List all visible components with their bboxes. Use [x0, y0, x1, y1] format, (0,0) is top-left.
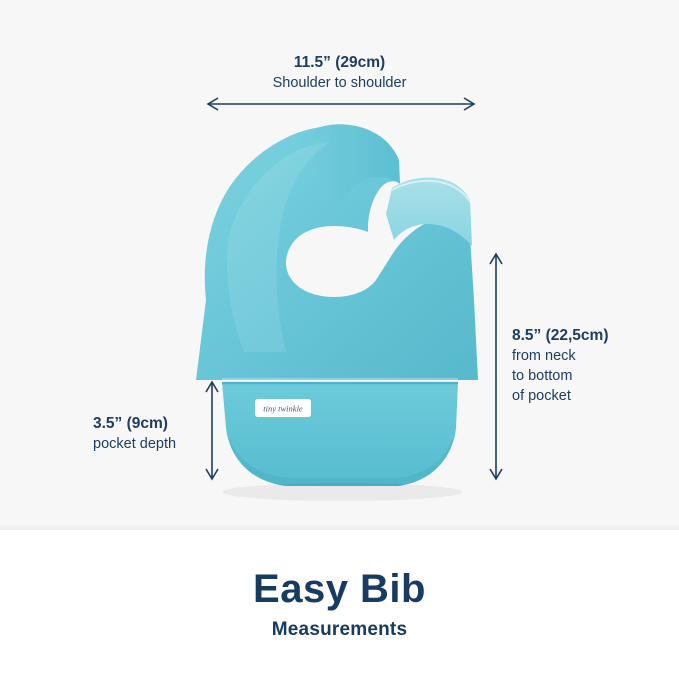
pocket-depth-measurement-value: 3.5” (9cm) [93, 413, 176, 434]
title-block: Easy Bib Measurements [0, 566, 679, 641]
neck-to-pocket-measurement-value: 8.5” (22,5cm) [512, 325, 609, 346]
bib-body-group: tiny twinkle [196, 124, 478, 501]
shoulder-measurement-value: 11.5” (29cm) [0, 52, 679, 73]
product-title: Easy Bib [0, 566, 679, 612]
bib-drop-shadow [222, 483, 462, 501]
brand-tag: tiny twinkle [255, 399, 311, 417]
shoulder-measurement-description: Shoulder to shoulder [0, 73, 679, 93]
pocket-depth-arrow [206, 382, 218, 479]
neck-to-pocket-arrow [490, 254, 502, 479]
product-subtitle: Measurements [0, 619, 679, 641]
shoulder-width-arrow [208, 98, 474, 110]
measurement-diagram-page: tiny twinkle [0, 0, 679, 679]
pocket-depth-measurement-description: pocket depth [93, 434, 176, 454]
neck-to-pocket-description-line-2: to bottom [512, 366, 609, 386]
brand-tag-text: tiny twinkle [263, 404, 303, 414]
neck-to-pocket-description-line-1: from neck [512, 346, 609, 366]
neck-to-pocket-measurement-label: 8.5” (22,5cm) from neck to bottom of poc… [512, 325, 609, 406]
shoulder-measurement-label: 11.5” (29cm) Shoulder to shoulder [0, 52, 679, 93]
neck-to-pocket-description-line-3: of pocket [512, 386, 609, 406]
pocket-depth-measurement-label: 3.5” (9cm) pocket depth [93, 413, 176, 454]
